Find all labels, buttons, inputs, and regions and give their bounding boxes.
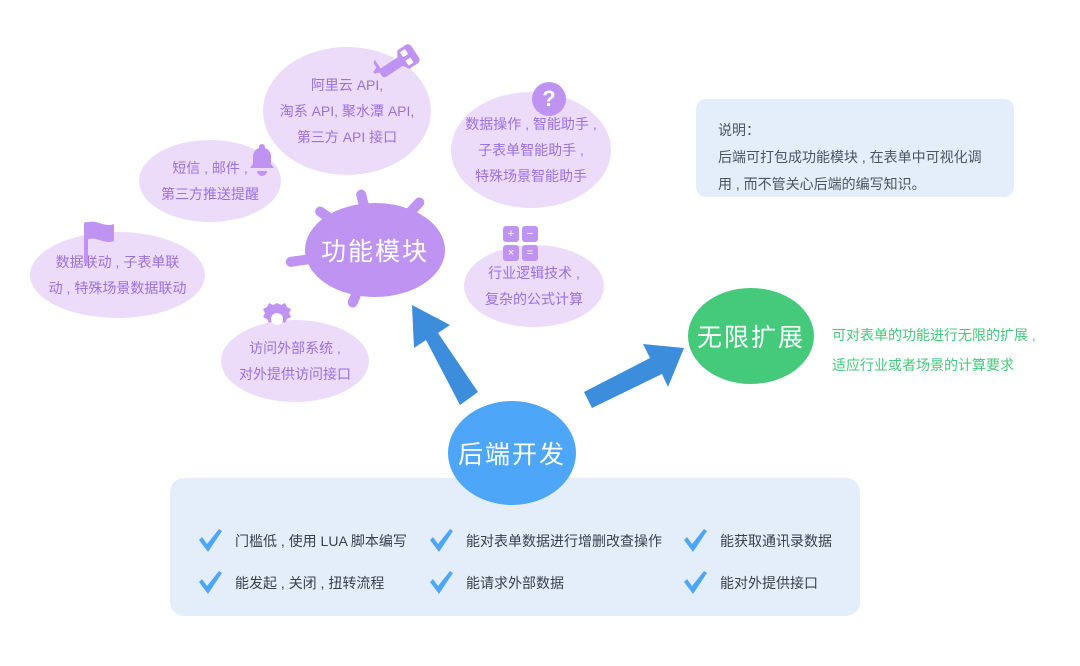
node-backend-development[interactable]: 后端开发 bbox=[448, 401, 576, 505]
explanation-line-3: 用 , 而不管关心后端的编写知识。 bbox=[718, 171, 992, 198]
checklist-item-1-label: 门槛低 , 使用 LUA 脚本编写 bbox=[235, 531, 407, 551]
bubble-notify-line-2: 第三方推送提醒 bbox=[161, 181, 259, 207]
bubble-formula-line-2: 复杂的公式计算 bbox=[485, 286, 583, 312]
checklist-item-4[interactable]: 能发起 , 关闭 , 扭转流程 bbox=[197, 570, 384, 596]
bubble-assistant-line-3: 特殊场景智能助手 bbox=[475, 163, 587, 189]
bubble-assistant-line-2: 子表单智能助手 , bbox=[478, 137, 584, 163]
arrow-to-unlimited-extension bbox=[580, 330, 690, 410]
checklist-item-1[interactable]: 门槛低 , 使用 LUA 脚本编写 bbox=[197, 528, 407, 554]
checklist-item-3[interactable]: 能获取通讯录数据 bbox=[682, 528, 832, 554]
bell-icon bbox=[245, 142, 279, 180]
bubble-linkage-line-2: 动 , 特殊场景数据联动 bbox=[49, 275, 187, 301]
bubble-external-line-1: 访问外部系统 , bbox=[249, 335, 341, 361]
check-icon bbox=[428, 570, 454, 596]
bubble-assistant-line-1: 数据操作 , 智能助手 , bbox=[465, 111, 596, 137]
checklist-item-4-label: 能发起 , 关闭 , 扭转流程 bbox=[235, 573, 384, 593]
calc-key-minus: − bbox=[522, 226, 538, 242]
node-backend-development-label: 后端开发 bbox=[458, 435, 566, 471]
checklist-item-5-label: 能请求外部数据 bbox=[466, 573, 564, 593]
bubble-assistant[interactable]: 数据操作 , 智能助手 , 子表单智能助手 , 特殊场景智能助手 bbox=[451, 92, 611, 208]
check-icon bbox=[197, 570, 223, 596]
calc-key-times: × bbox=[503, 245, 519, 261]
bubble-external-line-2: 对外提供访问接口 bbox=[239, 361, 351, 387]
diagram-canvas: 阿里云 API, 淘系 API, 聚水潭 API, 第三方 API 接口 数据操… bbox=[0, 0, 1080, 666]
checklist-item-6-label: 能对外提供接口 bbox=[720, 573, 818, 593]
bubble-formula-line-1: 行业逻辑技术 , bbox=[488, 260, 580, 286]
center-node-function-module[interactable]: 功能模块 bbox=[305, 203, 445, 297]
calc-key-equals: = bbox=[522, 245, 538, 261]
usb-plug-icon bbox=[367, 38, 423, 92]
explanation-line-2: 后端可打包成功能模块 , 在表单中可视化调 bbox=[718, 144, 992, 171]
flag-icon bbox=[78, 219, 122, 267]
checklist-item-5[interactable]: 能请求外部数据 bbox=[428, 570, 564, 596]
bubble-api-line-3: 第三方 API 接口 bbox=[297, 124, 397, 150]
calc-key-plus: + bbox=[503, 226, 519, 242]
unlimited-extension-desc-line-2: 适应行业或者场景的计算要求 bbox=[832, 350, 1036, 380]
arrow-to-function-module bbox=[400, 300, 480, 410]
bubble-api-line-2: 淘系 API, 聚水潭 API, bbox=[280, 98, 415, 124]
checklist-item-2[interactable]: 能对表单数据进行增删改查操作 bbox=[428, 528, 662, 554]
checklist-item-3-label: 能获取通讯录数据 bbox=[720, 531, 832, 551]
check-icon bbox=[197, 528, 223, 554]
checklist-item-6[interactable]: 能对外提供接口 bbox=[682, 570, 818, 596]
question-mark-icon: ? bbox=[532, 82, 566, 116]
checklist-item-2-label: 能对表单数据进行增删改查操作 bbox=[466, 531, 662, 551]
bubble-notify-line-1: 短信 , 邮件 , bbox=[172, 155, 247, 181]
center-node-label: 功能模块 bbox=[321, 232, 429, 268]
node-unlimited-extension[interactable]: 无限扩展 bbox=[688, 288, 814, 384]
explanation-line-1: 说明： bbox=[718, 117, 992, 144]
check-icon bbox=[682, 528, 708, 554]
check-icon bbox=[682, 570, 708, 596]
explanation-box: 说明： 后端可打包成功能模块 , 在表单中可视化调 用 , 而不管关心后端的编写… bbox=[696, 99, 1014, 197]
node-unlimited-extension-label: 无限扩展 bbox=[697, 318, 805, 354]
gear-icon bbox=[258, 300, 296, 338]
unlimited-extension-description: 可对表单的功能进行无限的扩展 , 适应行业或者场景的计算要求 bbox=[832, 320, 1036, 380]
unlimited-extension-desc-line-1: 可对表单的功能进行无限的扩展 , bbox=[832, 320, 1036, 350]
check-icon bbox=[428, 528, 454, 554]
calculator-icon: + − × = bbox=[503, 226, 538, 261]
